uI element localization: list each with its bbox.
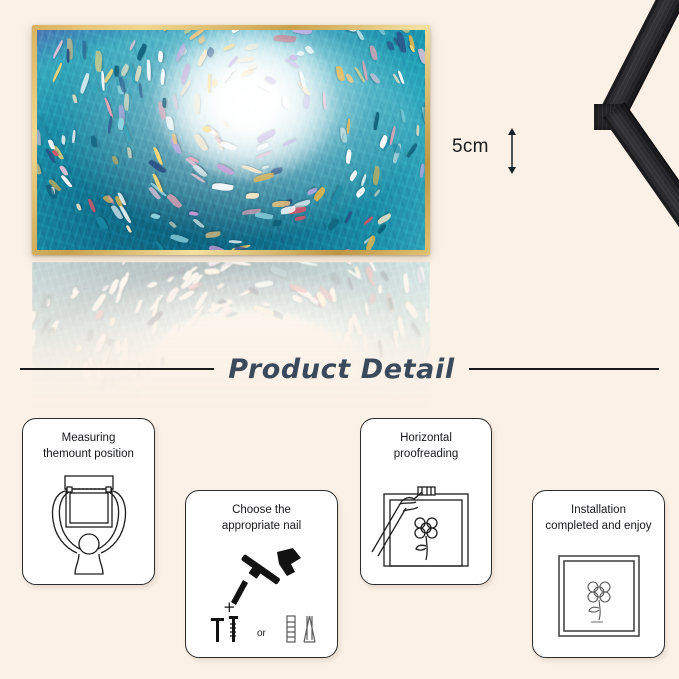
paint-stroke: [192, 217, 205, 229]
card2-caption: Choose the appropriate nail: [192, 503, 331, 534]
paint-stroke: [283, 96, 289, 108]
black-frame-corner-photo: [496, 0, 679, 290]
paint-stroke: [296, 49, 305, 56]
paint-stroke: [79, 73, 91, 94]
paint-stroke: [273, 34, 295, 44]
paint-stroke: [229, 239, 242, 244]
painting-canvas: [37, 30, 425, 250]
hand-leveling-frame-icon: [370, 478, 482, 570]
depth-dimension-annotation: 5cm: [452, 128, 522, 174]
paint-stroke: [264, 74, 276, 86]
paint-stroke: [220, 140, 238, 153]
paint-stroke: [360, 174, 367, 186]
paint-stroke: [59, 164, 69, 176]
card2-title-line1: Choose the: [192, 503, 331, 519]
paint-stroke: [173, 94, 178, 109]
paint-stroke: [336, 66, 345, 82]
card1-title-line1: Measuring: [29, 431, 148, 447]
card4-title-line2: completed and enjoy: [539, 519, 658, 535]
paint-stroke: [60, 173, 72, 188]
paint-stroke: [405, 144, 418, 159]
card4-caption: Installation completed and enjoy: [539, 503, 658, 534]
paint-stroke: [345, 119, 350, 134]
paint-stroke: [374, 189, 382, 197]
paint-stroke: [418, 47, 425, 64]
instruction-card-nail: Choose the appropriate nail + or: [185, 490, 338, 658]
paint-stroke: [329, 185, 344, 207]
paint-stroke: [388, 126, 396, 145]
paint-stroke: [123, 94, 129, 111]
paint-stroke: [329, 249, 350, 250]
divider-left: [20, 368, 214, 370]
paint-stroke: [248, 63, 258, 70]
paint-stroke: [326, 218, 340, 231]
card4-illustration: [533, 543, 664, 649]
paint-stroke: [61, 135, 66, 144]
card1-illustration: [23, 471, 154, 576]
paint-stroke: [90, 83, 99, 94]
paint-stroke: [244, 44, 258, 51]
paint-stroke: [166, 116, 174, 130]
paint-stroke: [343, 211, 353, 224]
paint-stroke: [371, 166, 381, 185]
paint-stroke: [112, 156, 119, 165]
paint-stroke: [257, 129, 278, 143]
paint-stroke: [206, 231, 221, 237]
paint-stroke: [194, 132, 209, 152]
paint-stroke: [150, 212, 160, 220]
paint-stroke: [419, 164, 425, 179]
paint-stroke: [127, 148, 132, 159]
paint-stroke: [323, 92, 326, 109]
instruction-card-measuring: Measuring themount position: [22, 418, 155, 585]
card3-title-line2: proofreading: [367, 447, 485, 463]
paint-stroke: [82, 41, 87, 60]
paint-stroke: [161, 97, 166, 107]
paint-stroke: [377, 224, 387, 234]
paint-stroke: [205, 47, 215, 58]
paint-stroke: [424, 102, 425, 120]
person-holding-frame-icon: [35, 472, 143, 576]
page-title: Product Detail: [214, 354, 468, 385]
paint-stroke: [346, 73, 354, 84]
paint-stroke: [96, 215, 108, 230]
paint-stroke: [197, 36, 206, 44]
framed-flower-picture-icon: [553, 550, 645, 642]
paint-stroke: [257, 142, 270, 150]
paint-stroke: [373, 30, 386, 36]
paint-stroke: [104, 96, 113, 117]
paint-stroke: [273, 220, 282, 227]
hammer-and-nails-icon: + or: [199, 546, 325, 646]
paint-stroke: [163, 30, 173, 31]
paint-stroke: [303, 94, 312, 109]
paint-stroke: [416, 125, 420, 137]
paint-stroke: [210, 78, 219, 87]
paint-stroke: [146, 59, 150, 80]
paint-stroke: [90, 136, 96, 148]
card3-title-line1: Horizontal: [367, 431, 485, 447]
double-arrow-vertical-icon: [505, 128, 519, 174]
hero-product-photo: 5cm: [0, 0, 679, 400]
paint-stroke: [157, 50, 164, 62]
paint-stroke: [356, 30, 364, 40]
paint-stroke: [138, 83, 142, 98]
paint-stroke: [211, 182, 233, 192]
paint-stroke: [341, 30, 358, 34]
paint-stroke: [370, 45, 378, 61]
paint-stroke: [169, 221, 177, 229]
card2-or-label: or: [257, 628, 267, 639]
paint-stroke: [373, 112, 381, 130]
paint-stroke: [169, 233, 188, 245]
paint-stroke: [348, 170, 359, 182]
depth-label: 5cm: [452, 136, 489, 158]
paint-stroke: [126, 225, 132, 233]
card1-title-line2: themount position: [29, 447, 148, 463]
instruction-card-leveling: Horizontal proofreading: [360, 418, 492, 585]
paint-stroke: [223, 120, 229, 129]
paint-stroke: [107, 116, 114, 135]
paint-stroke: [37, 162, 41, 175]
paint-stroke: [230, 30, 244, 34]
paint-stroke: [193, 94, 201, 114]
paint-stroke: [237, 57, 254, 63]
card4-title-line1: Installation: [539, 503, 658, 519]
paint-stroke: [292, 30, 312, 36]
paint-stroke: [156, 240, 168, 250]
paint-stroke: [102, 68, 113, 82]
paint-stroke: [241, 163, 262, 175]
gold-framed-painting: [32, 25, 430, 255]
instruction-card-completed: Installation completed and enjoy: [532, 490, 665, 658]
paint-stroke: [397, 31, 406, 53]
paint-stroke: [128, 40, 136, 51]
paint-stroke: [255, 150, 273, 159]
paint-stroke: [387, 41, 394, 51]
paint-stroke: [52, 63, 65, 83]
paint-stroke: [252, 173, 274, 183]
card3-caption: Horizontal proofreading: [367, 431, 485, 462]
paint-stroke: [208, 243, 224, 250]
paint-stroke: [344, 149, 352, 163]
frame-bar-lower: [602, 102, 679, 290]
paint-stroke: [135, 43, 148, 61]
svg-text:+: +: [223, 598, 236, 616]
paint-stroke: [94, 51, 103, 72]
paint-stroke: [123, 125, 131, 143]
paint-stroke: [189, 210, 199, 216]
paint-stroke: [76, 203, 81, 211]
paint-stroke: [304, 45, 314, 56]
paint-stroke: [400, 109, 406, 123]
product-detail-heading: Product Detail: [0, 348, 679, 390]
paint-stroke: [282, 138, 297, 147]
card2-title-line2: appropriate nail: [192, 519, 331, 535]
paint-stroke: [354, 186, 367, 198]
paint-stroke: [229, 68, 237, 74]
paint-stroke: [113, 66, 119, 77]
paint-stroke: [295, 215, 306, 221]
paint-stroke: [370, 72, 381, 85]
paint-stroke: [52, 41, 64, 60]
paint-stroke: [223, 43, 236, 51]
paint-stroke: [167, 192, 183, 209]
card1-caption: Measuring themount position: [29, 431, 148, 462]
paint-stroke: [88, 198, 96, 212]
paint-stroke: [246, 193, 259, 200]
paint-stroke: [262, 165, 269, 169]
paint-stroke: [71, 129, 76, 143]
paint-stroke: [215, 162, 234, 178]
card2-illustration: + or: [186, 543, 337, 649]
divider-right: [469, 368, 659, 370]
paint-stroke: [159, 69, 165, 85]
paint-stroke: [363, 216, 374, 225]
paint-stroke: [119, 63, 131, 77]
card3-illustration: [361, 471, 491, 576]
paint-stroke: [240, 68, 255, 77]
paint-stroke: [72, 94, 77, 104]
